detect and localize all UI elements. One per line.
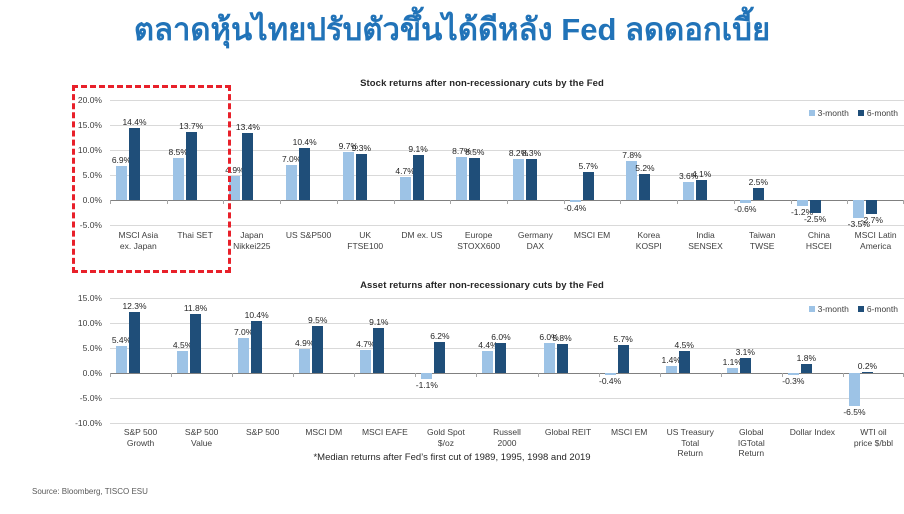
category-label-line: FTSE100 xyxy=(335,241,395,252)
x-axis-tick-mark xyxy=(167,200,168,204)
bar-value-label: 8.3% xyxy=(522,148,541,158)
bar-6-month[interactable] xyxy=(862,372,873,373)
category-label-line: MSCI Latin xyxy=(846,230,904,241)
x-axis-tick-mark xyxy=(450,200,451,204)
bar-value-label: -1.1% xyxy=(416,380,438,390)
category-label-line: TWSE xyxy=(732,241,792,252)
bar-group[interactable]: 7.0%10.4% xyxy=(232,298,293,423)
x-axis-tick-mark xyxy=(223,200,224,204)
bar-3-month[interactable] xyxy=(421,373,432,379)
bar-group[interactable]: 4.5%11.8% xyxy=(171,298,232,423)
bar-value-label: 10.4% xyxy=(293,137,317,147)
x-axis-tick-mark xyxy=(171,373,172,377)
bar-3-month[interactable] xyxy=(544,343,555,373)
category-label: MSCI Asiaex. Japan xyxy=(108,230,168,251)
bar-value-label: -6.5% xyxy=(843,407,865,417)
category-label-line: Total xyxy=(660,438,720,449)
x-axis-tick-mark xyxy=(677,200,678,204)
bar-3-month[interactable] xyxy=(788,373,799,375)
category-label-line: Global REIT xyxy=(538,427,598,438)
category-label-line: price $/bbl xyxy=(843,438,903,449)
bar-3-month[interactable] xyxy=(286,165,297,200)
category-label-line: Europe xyxy=(449,230,509,241)
bar-3-month[interactable] xyxy=(797,200,808,206)
bar-6-month[interactable] xyxy=(557,344,568,373)
bar-group[interactable]: -0.6%2.5% xyxy=(734,100,791,225)
category-label-line: US Treasury xyxy=(660,427,720,438)
category-label-line: $/oz xyxy=(416,438,476,449)
category-label-line: Nikkei225 xyxy=(222,241,282,252)
category-label-line: WTI oil xyxy=(843,427,903,438)
bar-6-month[interactable] xyxy=(129,128,140,200)
category-label: S&P 500Growth xyxy=(111,427,171,448)
category-label: Thai SET xyxy=(165,230,225,241)
bar-group[interactable]: -0.4%5.7% xyxy=(564,100,621,225)
bar-6-month[interactable] xyxy=(242,133,253,200)
category-label: MSCI EAFE xyxy=(355,427,415,438)
bar-group-container: 6.9%14.4%8.5%13.7%4.9%13.4%7.0%10.4%9.7%… xyxy=(110,100,904,225)
bar-value-label: 5.2% xyxy=(635,163,654,173)
x-axis-tick-mark xyxy=(791,200,792,204)
bar-group[interactable]: 5.4%12.3% xyxy=(110,298,171,423)
bar-group[interactable]: 7.0%10.4% xyxy=(280,100,337,225)
category-label-line: Thai SET xyxy=(165,230,225,241)
bar-value-label: 7.8% xyxy=(622,150,641,160)
bar-value-label: 9.3% xyxy=(352,143,371,153)
bar-6-month[interactable] xyxy=(186,132,197,201)
category-label-line: Germany xyxy=(505,230,565,241)
y-axis-tick-label: 5.0% xyxy=(83,170,102,180)
bar-value-label: 9.5% xyxy=(308,315,327,325)
bar-6-month[interactable] xyxy=(469,158,480,201)
bar-value-label: 2.5% xyxy=(749,177,768,187)
bar-value-label: 14.4% xyxy=(122,117,146,127)
bar-value-label: 5.7% xyxy=(613,334,632,344)
bar-value-label: -0.6% xyxy=(734,204,756,214)
bar-6-month[interactable] xyxy=(495,343,506,373)
bar-3-month[interactable] xyxy=(116,346,127,373)
chart-2-category-labels: S&P 500GrowthS&P 500ValueS&P 500MSCI DMM… xyxy=(110,427,904,473)
bar-group[interactable]: 8.5%13.7% xyxy=(167,100,224,225)
x-axis-tick-mark xyxy=(110,373,111,377)
bar-value-label: -0.4% xyxy=(564,203,586,213)
bar-6-month[interactable] xyxy=(373,328,384,374)
bar-3-month[interactable] xyxy=(343,152,354,201)
category-label-line: Gold Spot xyxy=(416,427,476,438)
category-label: US S&P500 xyxy=(279,230,339,241)
bar-3-month[interactable] xyxy=(570,200,581,202)
y-axis-tick-label: 10.0% xyxy=(78,145,102,155)
x-axis-tick-mark xyxy=(293,373,294,377)
category-label: Gold Spot$/oz xyxy=(416,427,476,448)
chart-2-title: Asset returns after non-recessionary cut… xyxy=(60,280,904,291)
category-label-line: ex. Japan xyxy=(108,241,168,252)
bar-value-label: 1.8% xyxy=(797,353,816,363)
bar-value-label: 9.1% xyxy=(369,317,388,327)
bar-3-month[interactable] xyxy=(849,373,860,406)
category-label-line: MSCI EM xyxy=(562,230,622,241)
bar-6-month[interactable] xyxy=(356,154,367,201)
category-label: MSCI EM xyxy=(562,230,622,241)
category-label-line: MSCI Asia xyxy=(108,230,168,241)
category-label: Russell2000 xyxy=(477,427,537,448)
bar-group[interactable]: -1.1%6.2% xyxy=(415,298,476,423)
category-label: ChinaHSCEI xyxy=(789,230,849,251)
x-axis-tick-mark xyxy=(507,200,508,204)
bar-6-month[interactable] xyxy=(810,200,821,213)
x-axis-tick-mark xyxy=(110,200,111,204)
category-label-line: KOSPI xyxy=(619,241,679,252)
x-axis-tick-mark xyxy=(538,373,539,377)
category-label-line: S&P 500 xyxy=(233,427,293,438)
bar-value-label: 4.5% xyxy=(675,340,694,350)
y-axis-tick-label: 15.0% xyxy=(78,293,102,303)
bar-group[interactable]: -0.4%5.7% xyxy=(599,298,660,423)
bar-6-month[interactable] xyxy=(190,314,201,373)
y-axis-tick-label: -5.0% xyxy=(80,393,102,403)
bar-3-month[interactable] xyxy=(173,158,184,201)
page-title: ตลาดหุ้นไทยปรับตัวขึ้นได้ดีหลัง Fed ลดดอ… xyxy=(0,8,904,52)
bar-6-month[interactable] xyxy=(753,188,764,201)
category-label-line: S&P 500 xyxy=(172,427,232,438)
category-label-line: MSCI EAFE xyxy=(355,427,415,438)
bar-6-month[interactable] xyxy=(679,351,690,374)
gridline xyxy=(110,423,904,424)
bar-6-month[interactable] xyxy=(434,342,445,373)
bar-6-month[interactable] xyxy=(526,159,537,201)
bar-value-label: 13.4% xyxy=(236,122,260,132)
bar-value-label: 12.3% xyxy=(122,301,146,311)
category-label-line: US S&P500 xyxy=(279,230,339,241)
bar-group[interactable]: 8.7%8.5% xyxy=(450,100,507,225)
bar-group[interactable]: -6.5%0.2% xyxy=(843,298,904,423)
bar-group[interactable]: 4.7%9.1% xyxy=(354,298,415,423)
y-axis-tick-label: 15.0% xyxy=(78,120,102,130)
category-label: JapanNikkei225 xyxy=(222,230,282,251)
category-label: Global REIT xyxy=(538,427,598,438)
bar-6-month[interactable] xyxy=(413,155,424,201)
x-axis-tick-mark xyxy=(843,373,844,377)
bar-6-month[interactable] xyxy=(129,312,140,374)
category-label: S&P 500 xyxy=(233,427,293,438)
category-label-line: UK xyxy=(335,230,395,241)
y-axis-tick-label: 10.0% xyxy=(78,318,102,328)
bar-group[interactable]: -3.5%-2.7% xyxy=(847,100,904,225)
category-label-line: STOXX600 xyxy=(449,241,509,252)
category-label: TaiwanTWSE xyxy=(732,230,792,251)
category-label: IndiaSENSEX xyxy=(676,230,736,251)
bar-6-month[interactable] xyxy=(251,321,262,373)
category-label-line: China xyxy=(789,230,849,241)
category-label-line: Value xyxy=(172,438,232,449)
bar-group[interactable]: 6.0%5.8% xyxy=(538,298,599,423)
bar-group[interactable]: 3.6%4.1% xyxy=(677,100,734,225)
bar-3-month[interactable] xyxy=(513,159,524,200)
x-axis-tick-mark xyxy=(232,373,233,377)
x-axis-tick-mark xyxy=(394,200,395,204)
bar-value-label: 0.2% xyxy=(858,361,877,371)
bar-value-label: -0.4% xyxy=(599,376,621,386)
bar-value-label: 9.1% xyxy=(408,144,427,154)
x-axis-tick-mark xyxy=(599,373,600,377)
category-label-line: 2000 xyxy=(477,438,537,449)
category-label: DM ex. US xyxy=(392,230,452,241)
bar-3-month[interactable] xyxy=(666,366,677,373)
bar-group[interactable]: 1.4%4.5% xyxy=(660,298,721,423)
bar-6-month[interactable] xyxy=(696,180,707,201)
x-axis-tick-mark xyxy=(415,373,416,377)
gridline xyxy=(110,225,904,226)
bar-3-month[interactable] xyxy=(740,200,751,203)
y-axis-tick-label: 0.0% xyxy=(83,368,102,378)
bar-value-label: 6.0% xyxy=(491,332,510,342)
bar-3-month[interactable] xyxy=(605,373,616,375)
category-label-line: HSCEI xyxy=(789,241,849,252)
bar-6-month[interactable] xyxy=(299,148,310,200)
bar-3-month[interactable] xyxy=(456,157,467,201)
bar-group[interactable]: 4.4%6.0% xyxy=(476,298,537,423)
x-axis-tick-mark xyxy=(734,200,735,204)
category-label-line: America xyxy=(846,241,904,252)
x-axis-tick-mark xyxy=(564,200,565,204)
category-label-line: Taiwan xyxy=(732,230,792,241)
bar-3-month[interactable] xyxy=(229,176,240,201)
chart-1-category-labels: MSCI Asiaex. JapanThai SETJapanNikkei225… xyxy=(110,230,904,276)
category-label: MSCI DM xyxy=(294,427,354,438)
bar-value-label: 8.5% xyxy=(465,147,484,157)
category-label-line: DM ex. US xyxy=(392,230,452,241)
bar-group[interactable]: -1.2%-2.5% xyxy=(791,100,848,225)
bar-value-label: 4.1% xyxy=(692,169,711,179)
bar-value-label: 5.7% xyxy=(579,161,598,171)
category-label: S&P 500Value xyxy=(172,427,232,448)
category-label: KoreaKOSPI xyxy=(619,230,679,251)
bar-group[interactable]: 4.7%9.1% xyxy=(394,100,451,225)
bar-value-label: 6.2% xyxy=(430,331,449,341)
x-axis-tick-mark xyxy=(354,373,355,377)
y-axis-tick-label: -10.0% xyxy=(75,418,102,428)
y-axis-tick-label: 5.0% xyxy=(83,343,102,353)
bar-group[interactable]: 4.9%13.4% xyxy=(223,100,280,225)
y-axis-tick-label: -5.0% xyxy=(80,220,102,230)
category-label: WTI oilprice $/bbl xyxy=(843,427,903,448)
bar-3-month[interactable] xyxy=(299,349,310,374)
category-label: GermanyDAX xyxy=(505,230,565,251)
bar-3-month[interactable] xyxy=(360,350,371,374)
y-axis: 15.0%10.0%5.0%0.0%-5.0%-10.0% xyxy=(60,298,106,423)
footnote: *Median returns after Fed’s first cut of… xyxy=(0,452,904,463)
bar-group[interactable]: -0.3%1.8% xyxy=(782,298,843,423)
chart-2-plot-area: 15.0%10.0%5.0%0.0%-5.0%-10.0%5.4%12.3%4.… xyxy=(60,298,904,423)
x-axis-tick-mark xyxy=(620,200,621,204)
source-note: Source: Bloomberg, TISCO ESU xyxy=(32,487,148,496)
bar-3-month[interactable] xyxy=(727,368,738,374)
bar-3-month[interactable] xyxy=(400,177,411,201)
bar-value-label: -2.7% xyxy=(861,215,883,225)
chart-1-title: Stock returns after non-recessionary cut… xyxy=(60,78,904,89)
category-label: EuropeSTOXX600 xyxy=(449,230,509,251)
category-label-line: SENSEX xyxy=(676,241,736,252)
bar-value-label: 5.8% xyxy=(552,333,571,343)
bar-value-label: 10.4% xyxy=(245,310,269,320)
bar-3-month[interactable] xyxy=(177,351,188,374)
bar-3-month[interactable] xyxy=(683,182,694,200)
bar-6-month[interactable] xyxy=(618,345,629,374)
bar-value-label: -0.3% xyxy=(782,376,804,386)
bar-3-month[interactable] xyxy=(238,338,249,373)
chart-asset-returns: Asset returns after non-recessionary cut… xyxy=(60,280,904,291)
bar-group[interactable]: 1.1%3.1% xyxy=(721,298,782,423)
y-axis-tick-label: 20.0% xyxy=(78,95,102,105)
x-axis-tick-mark xyxy=(660,373,661,377)
y-axis: 20.0%15.0%10.0%5.0%0.0%-5.0% xyxy=(60,100,106,225)
category-label: Dollar Index xyxy=(782,427,842,438)
bar-group-container: 5.4%12.3%4.5%11.8%7.0%10.4%4.9%9.5%4.7%9… xyxy=(110,298,904,423)
chart-1-plot-area: 20.0%15.0%10.0%5.0%0.0%-5.0%6.9%14.4%8.5… xyxy=(60,100,904,225)
bar-6-month[interactable] xyxy=(740,358,751,374)
category-label-line: Russell xyxy=(477,427,537,438)
bar-group[interactable]: 8.2%8.3% xyxy=(507,100,564,225)
category-label-line: India xyxy=(676,230,736,241)
y-axis-tick-label: 0.0% xyxy=(83,195,102,205)
category-label-line: MSCI DM xyxy=(294,427,354,438)
chart-stock-returns: Stock returns after non-recessionary cut… xyxy=(60,78,904,89)
category-label-line: Japan xyxy=(222,230,282,241)
category-label-line: S&P 500 xyxy=(111,427,171,438)
category-label: MSCI LatinAmerica xyxy=(846,230,904,251)
bar-6-month[interactable] xyxy=(583,172,594,201)
x-axis-tick-mark xyxy=(337,200,338,204)
bar-value-label: 13.7% xyxy=(179,121,203,131)
x-axis-tick-mark xyxy=(280,200,281,204)
bar-group[interactable]: 6.9%14.4% xyxy=(110,100,167,225)
x-axis-tick-mark xyxy=(476,373,477,377)
x-axis-tick-mark xyxy=(847,200,848,204)
category-label-line: MSCI EM xyxy=(599,427,659,438)
bar-6-month[interactable] xyxy=(639,174,650,200)
category-label-line: Dollar Index xyxy=(782,427,842,438)
category-label-line: Global xyxy=(721,427,781,438)
x-axis-tick-mark xyxy=(782,373,783,377)
bar-6-month[interactable] xyxy=(801,364,812,373)
bar-6-month[interactable] xyxy=(866,200,877,214)
category-label: MSCI EM xyxy=(599,427,659,438)
x-axis-tick-mark xyxy=(721,373,722,377)
bar-value-label: 11.8% xyxy=(184,303,207,313)
category-label-line: DAX xyxy=(505,241,565,252)
bar-group[interactable]: 4.9%9.5% xyxy=(293,298,354,423)
category-label-line: IGTotal xyxy=(721,438,781,449)
bar-group[interactable]: 7.8%5.2% xyxy=(620,100,677,225)
bar-6-month[interactable] xyxy=(312,326,323,374)
bar-3-month[interactable] xyxy=(116,166,127,201)
bar-group[interactable]: 9.7%9.3% xyxy=(337,100,394,225)
bar-3-month[interactable] xyxy=(482,351,493,373)
category-label-line: Growth xyxy=(111,438,171,449)
category-label: UKFTSE100 xyxy=(335,230,395,251)
bar-value-label: -2.5% xyxy=(804,214,826,224)
category-label-line: Korea xyxy=(619,230,679,241)
bar-value-label: 3.1% xyxy=(736,347,755,357)
